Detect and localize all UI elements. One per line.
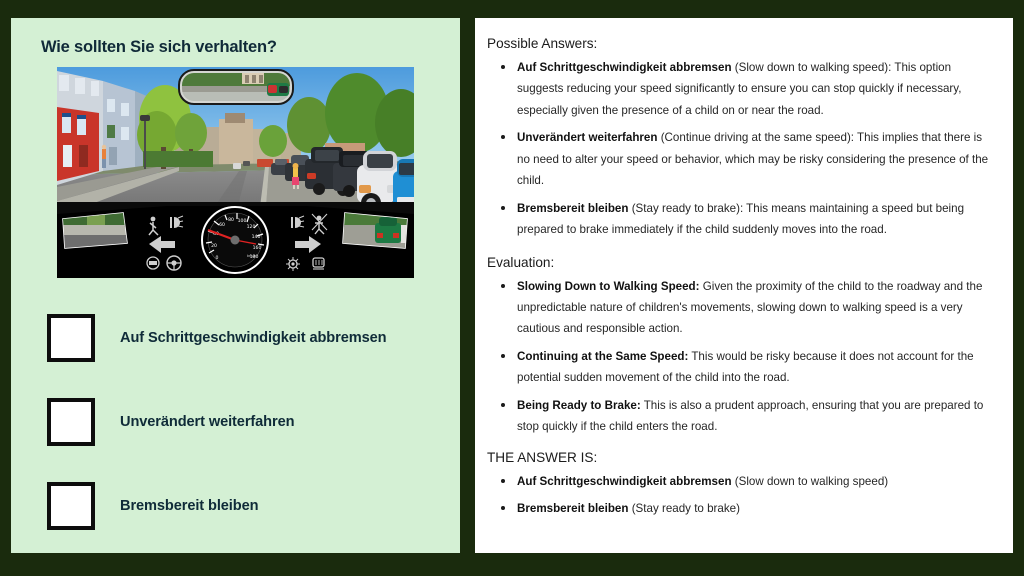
driving-scene-image: 0 20 40 60 80 100 120 140 160 180 km/h bbox=[57, 67, 414, 278]
option-row-3[interactable]: Bremsbereit bleiben bbox=[47, 480, 442, 532]
answer-term: Bremsbereit bleiben bbox=[517, 202, 628, 215]
checkbox-option-2[interactable] bbox=[47, 398, 95, 446]
svg-text:100: 100 bbox=[238, 218, 247, 224]
option-label-1: Auf Schrittgeschwindigkeit abbremsen bbox=[120, 330, 386, 346]
list-item: Unverändert weiterfahren (Continue drivi… bbox=[517, 127, 993, 191]
answer-options: Auf Schrittgeschwindigkeit abbremsen Unv… bbox=[29, 312, 442, 532]
possible-answers-list: Auf Schrittgeschwindigkeit abbremsen (Sl… bbox=[487, 57, 993, 241]
list-item: Auf Schrittgeschwindigkeit abbremsen (Sl… bbox=[517, 57, 993, 121]
svg-text:60: 60 bbox=[219, 222, 225, 228]
evaluation-list: Slowing Down to Walking Speed: Given the… bbox=[487, 276, 993, 438]
option-row-2[interactable]: Unverändert weiterfahren bbox=[47, 396, 442, 448]
final-answer-term: Bremsbereit bleiben bbox=[517, 502, 628, 515]
list-item: Continuing at the Same Speed: This would… bbox=[517, 346, 993, 389]
rearview-mirror bbox=[179, 70, 293, 104]
list-item: Slowing Down to Walking Speed: Given the… bbox=[517, 276, 993, 340]
checkbox-option-3[interactable] bbox=[47, 482, 95, 530]
list-item: Being Ready to Brake: This is also a pru… bbox=[517, 395, 993, 438]
driving-scene-svg: 0 20 40 60 80 100 120 140 160 180 km/h bbox=[57, 67, 414, 278]
evaluation-term: Continuing at the Same Speed: bbox=[517, 350, 688, 363]
checkbox-option-1[interactable] bbox=[47, 314, 95, 362]
answer-term: Unverändert weiterfahren bbox=[517, 131, 657, 144]
possible-answers-heading: Possible Answers: bbox=[487, 36, 993, 51]
final-answer-list: Auf Schrittgeschwindigkeit abbremsen (Sl… bbox=[487, 471, 993, 520]
final-answer-text: (Stay ready to brake) bbox=[628, 502, 739, 515]
parking-light-icon bbox=[286, 257, 300, 271]
svg-text:140: 140 bbox=[252, 234, 261, 240]
final-answer-text: (Slow down to walking speed) bbox=[732, 475, 889, 488]
screenshot-root: Wie sollten Sie sich verhalten? bbox=[0, 0, 1024, 576]
svg-text:km/h: km/h bbox=[247, 254, 256, 258]
final-answer-heading: THE ANSWER IS: bbox=[487, 450, 993, 465]
page-title: Wie sollten Sie sich verhalten? bbox=[41, 38, 442, 57]
list-item: Auf Schrittgeschwindigkeit abbremsen (Sl… bbox=[517, 471, 993, 492]
option-label-3: Bremsbereit bleiben bbox=[120, 498, 258, 514]
option-row-1[interactable]: Auf Schrittgeschwindigkeit abbremsen bbox=[47, 312, 442, 364]
left-hedge bbox=[143, 151, 213, 167]
evaluation-term: Slowing Down to Walking Speed: bbox=[517, 280, 700, 293]
svg-text:20: 20 bbox=[211, 243, 217, 249]
pedestrian-figure bbox=[102, 145, 106, 168]
svg-text:80: 80 bbox=[228, 217, 234, 223]
svg-text:0: 0 bbox=[216, 255, 219, 261]
list-item: Bremsbereit bleiben (Stay ready to brake… bbox=[517, 498, 993, 519]
answer-panel: Possible Answers: Auf Schrittgeschwindig… bbox=[475, 18, 1013, 553]
final-answer-term: Auf Schrittgeschwindigkeit abbremsen bbox=[517, 475, 732, 488]
svg-text:120: 120 bbox=[247, 224, 256, 230]
list-item: Bremsbereit bleiben (Stay ready to brake… bbox=[517, 198, 993, 241]
speedometer: 0 20 40 60 80 100 120 140 160 180 km/h bbox=[202, 207, 268, 273]
evaluation-term: Being Ready to Brake: bbox=[517, 399, 641, 412]
evaluation-heading: Evaluation: bbox=[487, 255, 993, 270]
question-panel: Wie sollten Sie sich verhalten? bbox=[11, 18, 460, 553]
answer-term: Auf Schrittgeschwindigkeit abbremsen bbox=[517, 61, 732, 74]
svg-text:160: 160 bbox=[253, 245, 262, 251]
option-label-2: Unverändert weiterfahren bbox=[120, 414, 294, 430]
